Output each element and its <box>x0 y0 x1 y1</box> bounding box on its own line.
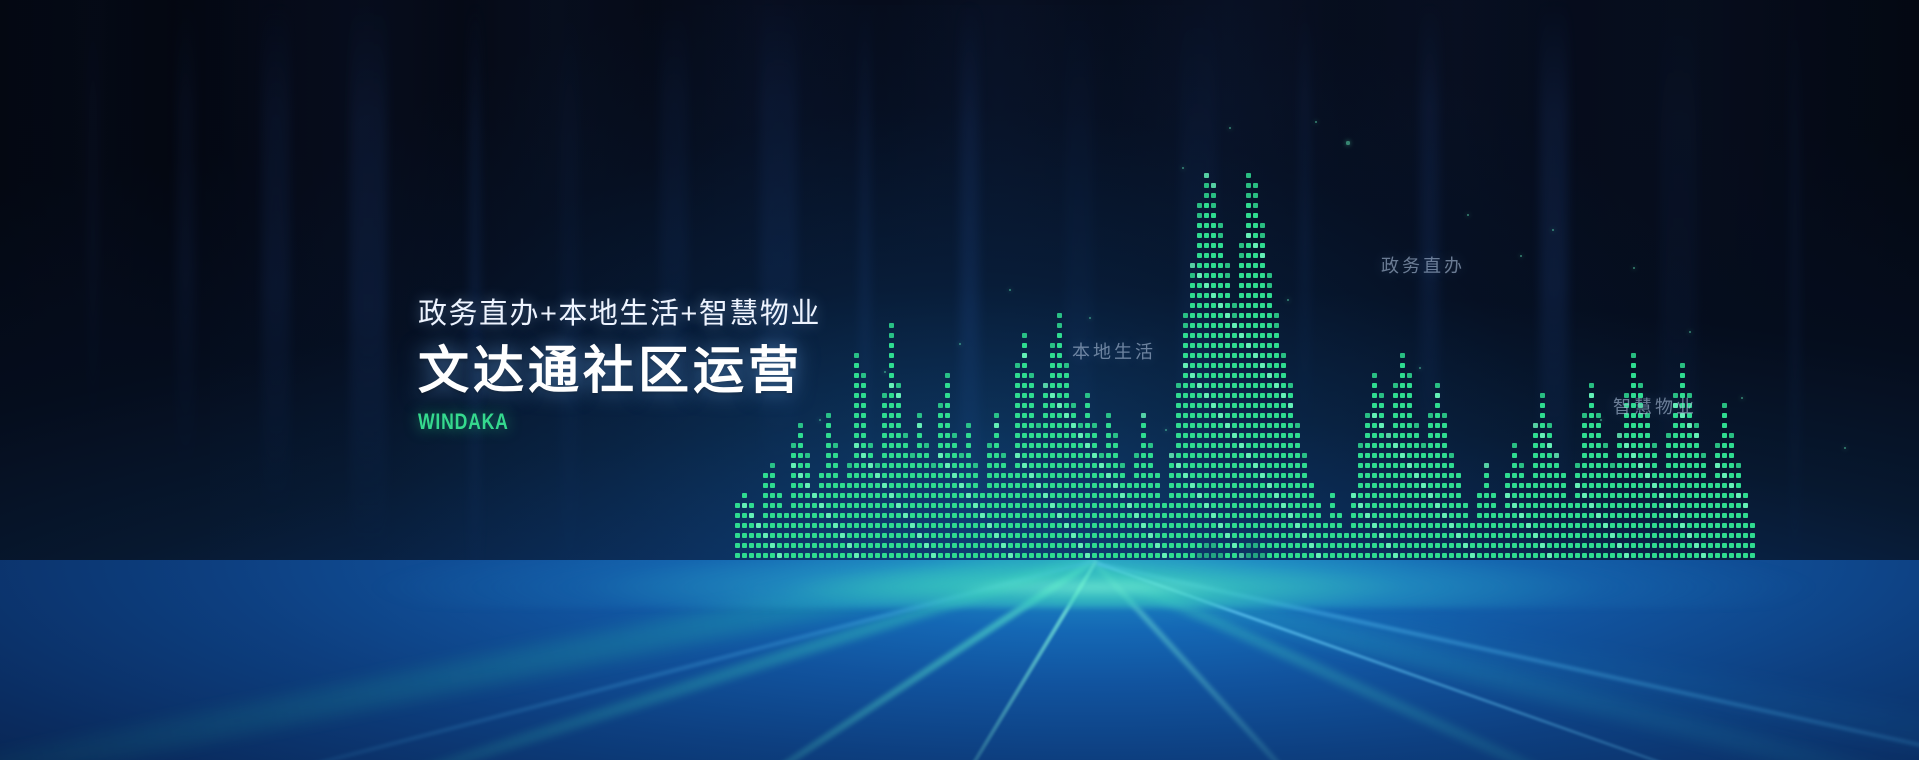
skyline-dot <box>868 493 873 498</box>
skyline-dot <box>1519 523 1524 528</box>
skyline-dot <box>1568 543 1573 548</box>
skyline-dot <box>1561 503 1566 508</box>
skyline-dot <box>1288 403 1293 408</box>
skyline-dot <box>861 463 866 468</box>
skyline-dot <box>1015 423 1020 428</box>
skyline-dot <box>1057 383 1062 388</box>
skyline-dot <box>749 513 754 518</box>
skyline-dot <box>1015 453 1020 458</box>
skyline-dot <box>1498 543 1503 548</box>
skyline-dot <box>1715 443 1720 448</box>
skyline-dot <box>1015 523 1020 528</box>
skyline-dot <box>1001 503 1006 508</box>
skyline-dot <box>1043 533 1048 538</box>
skyline-dot <box>1246 533 1251 538</box>
skyline-dot <box>1148 493 1153 498</box>
skyline-dot <box>945 403 950 408</box>
skyline-dot <box>1001 453 1006 458</box>
skyline-dot <box>889 463 894 468</box>
skyline-dot <box>1120 463 1125 468</box>
skyline-dot <box>1218 433 1223 438</box>
skyline-dot <box>1071 433 1076 438</box>
skyline-dot <box>1043 523 1048 528</box>
skyline-dot <box>1582 543 1587 548</box>
skyline-dot <box>798 473 803 478</box>
skyline-dot <box>994 553 999 558</box>
skyline-dot <box>1421 483 1426 488</box>
skyline-dot <box>763 533 768 538</box>
skyline-dot <box>1120 523 1125 528</box>
skyline-dot <box>1512 453 1517 458</box>
skyline-dot <box>1561 523 1566 528</box>
skyline-dot <box>1253 213 1258 218</box>
skyline-dot <box>1176 433 1181 438</box>
skyline-dot <box>1652 513 1657 518</box>
skyline-dot <box>917 493 922 498</box>
skyline-dot <box>987 513 992 518</box>
skyline-dot <box>938 473 943 478</box>
skyline-dot <box>1218 393 1223 398</box>
skyline-dot <box>1127 513 1132 518</box>
skyline-dot <box>959 453 964 458</box>
skyline-dot <box>1288 523 1293 528</box>
skyline-dot <box>1197 473 1202 478</box>
skyline-dot <box>1029 543 1034 548</box>
skyline-dot <box>1379 523 1384 528</box>
skyline-dot <box>1379 533 1384 538</box>
skyline-dot <box>1344 533 1349 538</box>
skyline-dot <box>1428 553 1433 558</box>
skyline-dot <box>1701 483 1706 488</box>
skyline-dot <box>1253 403 1258 408</box>
skyline-bar <box>1225 256 1230 608</box>
skyline-dot <box>735 503 740 508</box>
skyline-dot <box>1204 443 1209 448</box>
skyline-dot <box>1253 313 1258 318</box>
skyline-dot <box>1379 413 1384 418</box>
skyline-dot <box>1603 553 1608 558</box>
skyline-dot <box>1204 513 1209 518</box>
skyline-dot <box>1442 533 1447 538</box>
skyline-dot <box>1631 373 1636 378</box>
skyline-dot <box>1631 473 1636 478</box>
skyline-dot <box>1260 413 1265 418</box>
skyline-dot <box>1204 343 1209 348</box>
skyline-dot <box>749 543 754 548</box>
sky-particle <box>1633 267 1635 269</box>
skyline-dot <box>1176 543 1181 548</box>
skyline-dot <box>1414 543 1419 548</box>
skyline-dot <box>1071 543 1076 548</box>
skyline-dot <box>1267 533 1272 538</box>
skyline-dot <box>1113 533 1118 538</box>
skyline-dot <box>1428 413 1433 418</box>
skyline-dot <box>1701 463 1706 468</box>
skyline-dot <box>1204 263 1209 268</box>
skyline-dot <box>1281 423 1286 428</box>
skyline-dot <box>1540 553 1545 558</box>
skyline-dot <box>1155 503 1160 508</box>
skyline-dot <box>1225 483 1230 488</box>
skyline-dot <box>1589 483 1594 488</box>
skyline-dot <box>1372 393 1377 398</box>
skyline-dot <box>980 523 985 528</box>
skyline-dot <box>826 443 831 448</box>
skyline-dot <box>1085 393 1090 398</box>
skyline-dot <box>959 523 964 528</box>
skyline-dot <box>1232 353 1237 358</box>
sky-particle <box>1165 429 1167 431</box>
sky-particle <box>1689 331 1691 333</box>
skyline-dot <box>1085 523 1090 528</box>
skyline-dot <box>1022 463 1027 468</box>
skyline-dot <box>1687 453 1692 458</box>
skyline-dot <box>1596 423 1601 428</box>
skyline-dot <box>980 533 985 538</box>
skyline-dot <box>1407 443 1412 448</box>
skyline-dot <box>868 483 873 488</box>
skyline-dot <box>896 533 901 538</box>
skyline-dot <box>1120 473 1125 478</box>
skyline-dot <box>1232 373 1237 378</box>
skyline-dot <box>861 433 866 438</box>
skyline-dot <box>1183 543 1188 548</box>
skyline-dot <box>1043 553 1048 558</box>
skyline-dot <box>1610 503 1615 508</box>
skyline-dot <box>882 433 887 438</box>
skyline-dot <box>1428 453 1433 458</box>
skyline-dot <box>1267 353 1272 358</box>
skyline-dot <box>896 433 901 438</box>
skyline-dot <box>945 463 950 468</box>
skyline-dot <box>1428 463 1433 468</box>
skyline-dot <box>1386 533 1391 538</box>
skyline-dot <box>1239 473 1244 478</box>
skyline-dot <box>1582 443 1587 448</box>
skyline-dot <box>1708 533 1713 538</box>
skyline-dot <box>994 443 999 448</box>
skyline-dot <box>1246 293 1251 298</box>
skyline-dot <box>1050 443 1055 448</box>
skyline-dot <box>1484 463 1489 468</box>
skyline-dot <box>1701 493 1706 498</box>
skyline-dot <box>1638 463 1643 468</box>
skyline-dot <box>1239 373 1244 378</box>
skyline-dot <box>1631 503 1636 508</box>
skyline-dot <box>1050 363 1055 368</box>
skyline-dot <box>1204 333 1209 338</box>
skyline-dot <box>1239 553 1244 558</box>
skyline-dot <box>1708 503 1713 508</box>
skyline-dot <box>1197 313 1202 318</box>
skyline-dot <box>763 553 768 558</box>
skyline-dot <box>1638 453 1643 458</box>
skyline-dot <box>1449 463 1454 468</box>
skyline-dot <box>945 393 950 398</box>
skyline-dot <box>1190 373 1195 378</box>
skyline-dot <box>1596 443 1601 448</box>
skyline-dot <box>1638 543 1643 548</box>
skyline-dot <box>882 463 887 468</box>
skyline-dot <box>1246 393 1251 398</box>
skyline-dot <box>1554 463 1559 468</box>
skyline-dot <box>945 453 950 458</box>
skyline-dot <box>1085 503 1090 508</box>
skyline-dot <box>784 523 789 528</box>
skyline-dot <box>889 343 894 348</box>
skyline-dot <box>931 523 936 528</box>
skyline-dot <box>1036 433 1041 438</box>
skyline-dot <box>1435 403 1440 408</box>
skyline-dot <box>1015 493 1020 498</box>
skyline-dot <box>1666 433 1671 438</box>
skyline-dot <box>1596 463 1601 468</box>
skyline-dot <box>1505 533 1510 538</box>
skyline-dot <box>1589 533 1594 538</box>
skyline-dot <box>1617 503 1622 508</box>
skyline-dot <box>1463 513 1468 518</box>
skyline-dot <box>966 523 971 528</box>
skyline-dot <box>1673 453 1678 458</box>
skyline-dot <box>1519 463 1524 468</box>
skyline-dot <box>889 373 894 378</box>
skyline-dot <box>819 543 824 548</box>
skyline-dot <box>1617 523 1622 528</box>
skyline-dot <box>1715 493 1720 498</box>
skyline-dot <box>896 523 901 528</box>
skyline-dot <box>791 473 796 478</box>
skyline-dot <box>959 473 964 478</box>
skyline-dot <box>1379 503 1384 508</box>
skyline-dot <box>903 463 908 468</box>
skyline-dot <box>1547 543 1552 548</box>
skyline-bar <box>1218 216 1223 608</box>
skyline-dot <box>1190 313 1195 318</box>
skyline-dot <box>1029 463 1034 468</box>
skyline-dot <box>1211 493 1216 498</box>
skyline-dot <box>1050 393 1055 398</box>
skyline-dot <box>868 453 873 458</box>
skyline-dot <box>1211 323 1216 328</box>
skyline-dot <box>1617 553 1622 558</box>
skyline-dot <box>1267 493 1272 498</box>
skyline-dot <box>1260 453 1265 458</box>
skyline-dot <box>1022 553 1027 558</box>
skyline-dot <box>1750 553 1755 558</box>
skyline-dot <box>994 493 999 498</box>
skyline-dot <box>1022 443 1027 448</box>
skyline-dot <box>1386 493 1391 498</box>
skyline-dot <box>1092 533 1097 538</box>
skyline-dot <box>1540 543 1545 548</box>
skyline-dot <box>1183 513 1188 518</box>
skyline-dot <box>1204 293 1209 298</box>
skyline-dot <box>1442 473 1447 478</box>
skyline-dot <box>1204 503 1209 508</box>
skyline-dot <box>1715 503 1720 508</box>
skyline-dot <box>1113 453 1118 458</box>
skyline-dot <box>1659 533 1664 538</box>
skyline-dot <box>987 543 992 548</box>
skyline-dot <box>966 503 971 508</box>
skyline-dot <box>805 543 810 548</box>
skyline-dot <box>798 493 803 498</box>
skyline-dot <box>1477 503 1482 508</box>
skyline-dot <box>1631 523 1636 528</box>
skyline-dot <box>1358 543 1363 548</box>
sky-particle <box>1346 141 1349 144</box>
skyline-dot <box>1071 523 1076 528</box>
skyline-dot <box>1204 403 1209 408</box>
skyline-dot <box>1239 343 1244 348</box>
skyline-dot <box>1645 463 1650 468</box>
skyline-dot <box>938 553 943 558</box>
skyline-dot <box>1232 313 1237 318</box>
skyline-dot <box>1295 473 1300 478</box>
skyline-dot <box>854 543 859 548</box>
skyline-dot <box>1211 513 1216 518</box>
skyline-dot <box>1246 213 1251 218</box>
skyline-dot <box>1092 443 1097 448</box>
skyline-label-2: 政务直办 <box>1381 252 1465 278</box>
skyline-dot <box>1218 403 1223 408</box>
skyline-label-3: 智慧物业 <box>1613 393 1697 419</box>
skyline-dot <box>1365 413 1370 418</box>
skyline-dot <box>1358 493 1363 498</box>
skyline-dot <box>1400 513 1405 518</box>
skyline-dot <box>882 513 887 518</box>
skyline-dot <box>1239 533 1244 538</box>
skyline-dot <box>1435 533 1440 538</box>
skyline-dot <box>1281 543 1286 548</box>
skyline-dot <box>1218 493 1223 498</box>
skyline-dot <box>1267 343 1272 348</box>
skyline-dot <box>1232 443 1237 448</box>
skyline-dot <box>1547 453 1552 458</box>
skyline-dot <box>1239 503 1244 508</box>
skyline-dot <box>1694 443 1699 448</box>
skyline-dot <box>1407 533 1412 538</box>
skyline-dot <box>1407 543 1412 548</box>
skyline-dot <box>1085 433 1090 438</box>
skyline-dot <box>1232 503 1237 508</box>
skyline-dot <box>1029 533 1034 538</box>
skyline-dot <box>1372 373 1377 378</box>
skyline-dot <box>1295 503 1300 508</box>
skyline-dot <box>1274 423 1279 428</box>
skyline-dot <box>1379 463 1384 468</box>
skyline-dot <box>1253 383 1258 388</box>
skyline-dot <box>847 513 852 518</box>
skyline-dot <box>1260 273 1265 278</box>
skyline-dot <box>1183 383 1188 388</box>
skyline-dot <box>917 543 922 548</box>
skyline-dot <box>1057 483 1062 488</box>
skyline-dot <box>1267 333 1272 338</box>
skyline-dot <box>1057 543 1062 548</box>
skyline-dot <box>1246 373 1251 378</box>
skyline-dot <box>1309 483 1314 488</box>
skyline-dot <box>1274 453 1279 458</box>
skyline-dot <box>854 353 859 358</box>
skyline-dot <box>1211 343 1216 348</box>
skyline-dot <box>1050 473 1055 478</box>
skyline-dot <box>1099 463 1104 468</box>
skyline-dot <box>1421 443 1426 448</box>
skyline-dot <box>1435 473 1440 478</box>
skyline-dot <box>1204 203 1209 208</box>
skyline-dot <box>1204 433 1209 438</box>
skyline-dot <box>1414 473 1419 478</box>
skyline-dot <box>1197 523 1202 528</box>
skyline-dot <box>1022 543 1027 548</box>
skyline-dot <box>1253 353 1258 358</box>
skyline-dot <box>1400 483 1405 488</box>
skyline-dot <box>1379 433 1384 438</box>
skyline-dot <box>1204 473 1209 478</box>
skyline-dot <box>924 463 929 468</box>
skyline-dot <box>1197 443 1202 448</box>
skyline-dot <box>1589 443 1594 448</box>
skyline-dot <box>1470 523 1475 528</box>
skyline-dot <box>1015 403 1020 408</box>
skyline-dot <box>1687 543 1692 548</box>
skyline-dot <box>1407 413 1412 418</box>
skyline-dot <box>1582 523 1587 528</box>
skyline-dot <box>1204 283 1209 288</box>
skyline-dot <box>1330 503 1335 508</box>
skyline-dot <box>1638 383 1643 388</box>
skyline-dot <box>1743 493 1748 498</box>
skyline-dot <box>1533 463 1538 468</box>
skyline-dot <box>1547 533 1552 538</box>
skyline-dot <box>1043 433 1048 438</box>
skyline-dot <box>1029 413 1034 418</box>
skyline-dot <box>833 513 838 518</box>
skyline-dot <box>882 543 887 548</box>
skyline-dot <box>931 483 936 488</box>
skyline-dot <box>1225 523 1230 528</box>
skyline-dot <box>1211 333 1216 338</box>
skyline-dot <box>1715 513 1720 518</box>
skyline-dot <box>1204 413 1209 418</box>
skyline-dot <box>1036 543 1041 548</box>
skyline-dot <box>1680 483 1685 488</box>
skyline-dot <box>833 463 838 468</box>
skyline-dot <box>1379 553 1384 558</box>
skyline-dot <box>1141 483 1146 488</box>
skyline-dot <box>1694 543 1699 548</box>
skyline-dot <box>1652 473 1657 478</box>
skyline-dot <box>1512 533 1517 538</box>
skyline-dot <box>1673 483 1678 488</box>
skyline-dot <box>1253 553 1258 558</box>
skyline-dot <box>1008 523 1013 528</box>
skyline-dot <box>1617 483 1622 488</box>
skyline-dot <box>1148 553 1153 558</box>
skyline-dot <box>1085 413 1090 418</box>
skyline-dot <box>1050 353 1055 358</box>
skyline-dot <box>1568 553 1573 558</box>
sky-particle <box>1089 317 1091 319</box>
skyline-dot <box>1337 553 1342 558</box>
skyline-dot <box>1225 443 1230 448</box>
skyline-dot <box>1400 363 1405 368</box>
skyline-dot <box>1715 533 1720 538</box>
skyline-dot <box>1407 423 1412 428</box>
skyline-dot <box>868 463 873 468</box>
skyline-dot <box>1050 433 1055 438</box>
